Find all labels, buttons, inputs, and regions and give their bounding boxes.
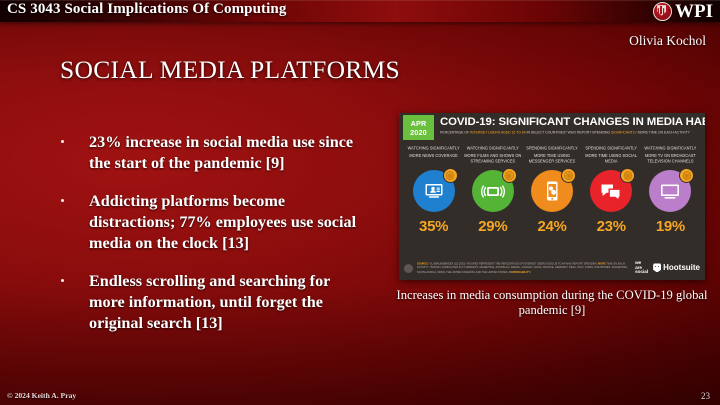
subtitle-part-b: INTERNET USERS AGED 16 TO 64	[470, 130, 525, 135]
sunburst-badge-icon	[620, 168, 635, 183]
stat-column: SPENDING SIGNIFICANTLY MORE TIME USING S…	[582, 145, 641, 235]
hootsuite-wordmark: Hootsuite	[663, 263, 700, 272]
owl-icon	[653, 263, 661, 272]
stat-value: 19%	[656, 218, 685, 235]
infographic-image: APR 2020 COVID-19: SIGNIFICANT CHANGES I…	[399, 113, 705, 280]
page-number: 23	[701, 391, 710, 401]
infographic-logos: we are social Hootsuite	[635, 261, 700, 275]
date-month: APR	[411, 119, 427, 128]
sunburst-badge-icon	[502, 168, 517, 183]
stat-column: WATCHING SIGNIFICANTLY MORE FILMS AND SH…	[463, 145, 522, 235]
stat-value: 23%	[597, 218, 626, 235]
stat-column: WATCHING SIGNIFICANTLY MORE TV ON BROADC…	[641, 145, 700, 235]
stat-value: 35%	[419, 218, 448, 235]
image-caption: Increases in media consumption during th…	[396, 288, 708, 318]
stat-label: WATCHING SIGNIFICANTLY MORE FILMS AND SH…	[463, 145, 522, 171]
bullet-text: 23% increase in social media use since t…	[89, 133, 353, 172]
stat-label: SPENDING SIGNIFICANTLY MORE TIME USING M…	[522, 145, 581, 171]
infographic-header: APR 2020 COVID-19: SIGNIFICANT CHANGES I…	[399, 113, 705, 141]
list-item: Endless scrolling and searching for more…	[56, 271, 368, 334]
list-item: 23% increase in social media use since t…	[56, 132, 368, 174]
stat-label: WATCHING SIGNIFICANTLY MORE NEWS COVERAG…	[404, 145, 463, 171]
we-are-social-line-3: social	[635, 270, 648, 275]
header-bar: CS 3043 Social Implications Of Computing	[0, 0, 720, 22]
hootsuite-logo: Hootsuite	[653, 263, 700, 272]
stat-icon-holder	[649, 170, 691, 212]
wpi-logo: WPI	[653, 0, 713, 22]
page-title: SOCIAL MEDIA PLATFORMS	[60, 55, 400, 85]
subtitle-part-a: PERCENTAGE OF	[440, 130, 470, 135]
stat-label: SPENDING SIGNIFICANTLY MORE TIME USING S…	[582, 145, 641, 171]
infographic-columns: WATCHING SIGNIFICANTLY MORE NEWS COVERAG…	[399, 145, 705, 253]
stat-value: 29%	[478, 218, 507, 235]
list-item: Addicting platforms become distractions;…	[56, 191, 368, 254]
bullet-list: 23% increase in social media use since t…	[56, 132, 368, 351]
infographic-footer: SOURCE: GLOBALWEBINDEX (Q1 2020). FIGURE…	[399, 256, 705, 280]
subtitle-part-c: IN SELECT COUNTRIES* WHO REPORT SPENDING	[526, 130, 611, 135]
date-badge: APR 2020	[403, 115, 434, 140]
bullet-text: Endless scrolling and searching for more…	[89, 272, 330, 332]
stat-icon-holder	[472, 170, 514, 212]
copyright-text: © 2024 Keith A. Pray	[7, 391, 76, 400]
infographic-title: COVID-19: SIGNIFICANT CHANGES IN MEDIA H…	[440, 116, 705, 128]
bullet-dot-icon	[61, 140, 64, 143]
date-year: 2020	[410, 128, 427, 137]
bullet-dot-icon	[61, 199, 64, 202]
sunburst-badge-icon	[443, 168, 458, 183]
wpi-seal-icon	[653, 2, 672, 21]
wpi-logo-text: WPI	[675, 2, 713, 21]
footnote-part-e: COMPARABILITY:	[508, 270, 531, 274]
infographic-subtitle: PERCENTAGE OF INTERNET USERS AGED 16 TO …	[440, 130, 705, 135]
sunburst-badge-icon	[561, 168, 576, 183]
we-are-social-logo: we are social	[635, 261, 648, 275]
footer-mark-icon	[404, 264, 413, 273]
sunburst-badge-icon	[679, 168, 694, 183]
bullet-text: Addicting platforms become distractions;…	[89, 192, 356, 252]
author-name: Olivia Kochol	[629, 33, 706, 49]
subtitle-part-e: MORE TIME ON EACH ACTIVITY	[637, 130, 690, 135]
infographic-footnote: SOURCE: GLOBALWEBINDEX (Q1 2020). FIGURE…	[417, 262, 631, 274]
stat-icon-holder	[590, 170, 632, 212]
stat-label: WATCHING SIGNIFICANTLY MORE TV ON BROADC…	[641, 145, 700, 171]
bullet-dot-icon	[61, 279, 64, 282]
infographic-canvas: APR 2020 COVID-19: SIGNIFICANT CHANGES I…	[399, 113, 705, 280]
stat-icon-holder	[413, 170, 455, 212]
infographic-headtext: COVID-19: SIGNIFICANT CHANGES IN MEDIA H…	[440, 116, 705, 134]
stat-value: 24%	[537, 218, 566, 235]
stat-column: SPENDING SIGNIFICANTLY MORE TIME USING M…	[522, 145, 581, 235]
stat-column: WATCHING SIGNIFICANTLY MORE NEWS COVERAG…	[404, 145, 463, 235]
subtitle-part-d: SIGNIFICANTLY	[611, 130, 637, 135]
stat-icon-holder	[531, 170, 573, 212]
course-title: CS 3043 Social Implications Of Computing	[7, 1, 286, 18]
slide: CS 3043 Social Implications Of Computing…	[0, 0, 720, 405]
